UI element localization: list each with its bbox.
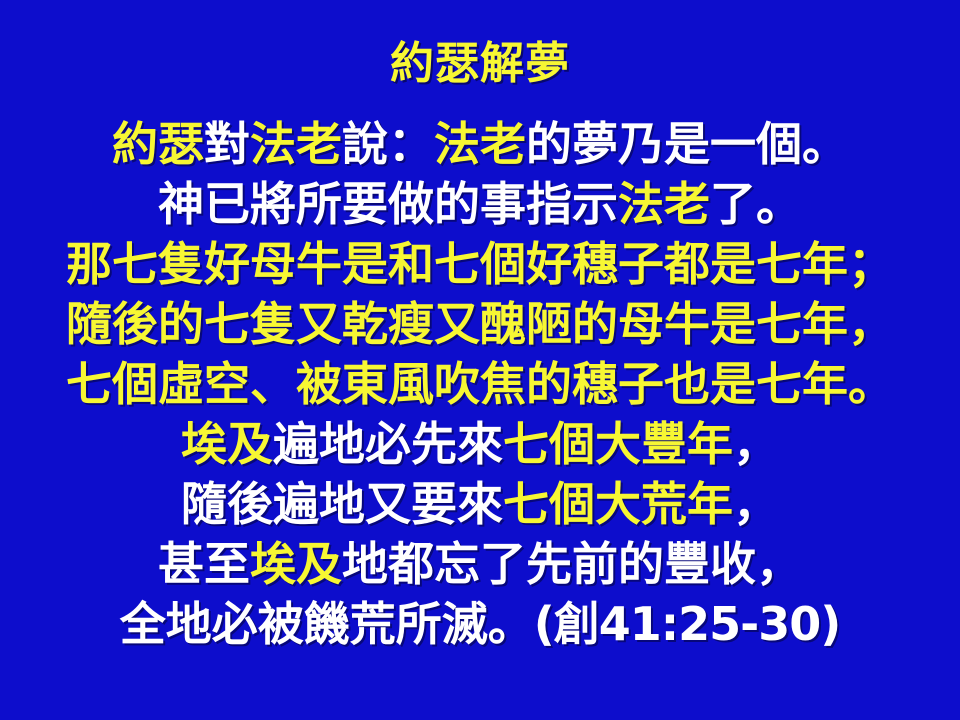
body-text: 的夢乃是一個。 (526, 117, 848, 171)
body-text: 說： (342, 117, 434, 171)
verse-line: 神已將所要做的事指示法老了。 (0, 174, 960, 234)
body-text: 神已將所要做的事指示 (158, 177, 618, 231)
verse-line: 隨後遍地又要來七個大荒年， (0, 474, 960, 534)
highlighted-text: 七個大荒年 (503, 477, 733, 531)
highlighted-text: 七個大豐年 (503, 417, 733, 471)
slide-title: 約瑟解夢 (0, 38, 960, 90)
highlighted-text: 埃及 (250, 537, 342, 591)
verse-body: 約瑟對法老說：法老的夢乃是一個。神已將所要做的事指示法老了。那七隻好母牛是和七個… (0, 114, 960, 654)
verse-line: 七個虛空、被東風吹焦的穗子也是七年。 (0, 354, 960, 414)
body-text: 甚至 (158, 537, 250, 591)
body-text: ， (733, 417, 779, 471)
body-text: ， (733, 477, 779, 531)
highlighted-text: 埃及 (181, 417, 273, 471)
body-text: 對 (204, 117, 250, 171)
highlighted-text: 法老 (250, 117, 342, 171)
body-text: 了。 (710, 177, 802, 231)
verse-line: 全地必被饑荒所滅。(創41:25-30) (0, 594, 960, 654)
verse-line: 甚至埃及地都忘了先前的豐收， (0, 534, 960, 594)
verse-line: 隨後的七隻又乾瘦又醜陋的母牛是七年， (0, 294, 960, 354)
highlighted-text: 法老 (618, 177, 710, 231)
highlighted-text: 隨後的七隻又乾瘦又醜陋的母牛是七年， (66, 297, 894, 351)
verse-line: 約瑟對法老說：法老的夢乃是一個。 (0, 114, 960, 174)
highlighted-text: 七個虛空、被東風吹焦的穗子也是七年。 (66, 357, 894, 411)
highlighted-text: 約瑟 (112, 117, 204, 171)
highlighted-text: 法老 (434, 117, 526, 171)
body-text: 全地必被饑荒所滅。 (120, 597, 534, 651)
body-text: 地都忘了先前的豐收， (342, 537, 802, 591)
highlighted-text: 那七隻好母牛是和七個好穗子都是七年； (66, 237, 894, 291)
presentation-slide: 約瑟解夢 約瑟對法老說：法老的夢乃是一個。神已將所要做的事指示法老了。那七隻好母… (0, 0, 960, 720)
verse-line: 埃及遍地必先來七個大豐年， (0, 414, 960, 474)
verse-line: 那七隻好母牛是和七個好穗子都是七年； (0, 234, 960, 294)
body-text: 遍地必先來 (273, 417, 503, 471)
scripture-reference: (創41:25-30) (534, 597, 841, 651)
body-text: 隨後遍地又要來 (181, 477, 503, 531)
